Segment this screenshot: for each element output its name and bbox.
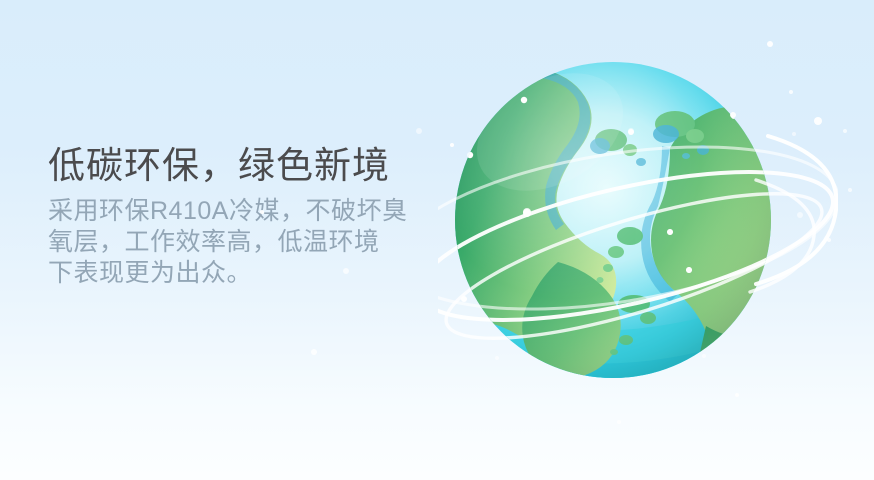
earth-globe-icon	[438, 40, 838, 440]
sparkle-dot	[848, 188, 852, 192]
earth-globe-illustration	[438, 40, 838, 440]
sparkle-dot	[843, 129, 847, 133]
page-title: 低碳环保，绿色新境	[48, 144, 448, 188]
body-line-2: 氧层，工作效率高，低温环境	[48, 227, 448, 258]
body-line-3: 下表现更为出众。	[48, 258, 448, 289]
body-line-1: 采用环保R410A冷媒，不破坏臭	[48, 196, 448, 227]
sparkle-dot	[311, 349, 317, 355]
sparkle-dot	[416, 128, 422, 134]
globe-sphere	[438, 49, 838, 385]
copy-block: 低碳环保，绿色新境 采用环保R410A冷媒，不破坏臭 氧层，工作效率高，低温环境…	[48, 144, 448, 289]
eco-banner: 低碳环保，绿色新境 采用环保R410A冷媒，不破坏臭 氧层，工作效率高，低温环境…	[0, 0, 874, 480]
